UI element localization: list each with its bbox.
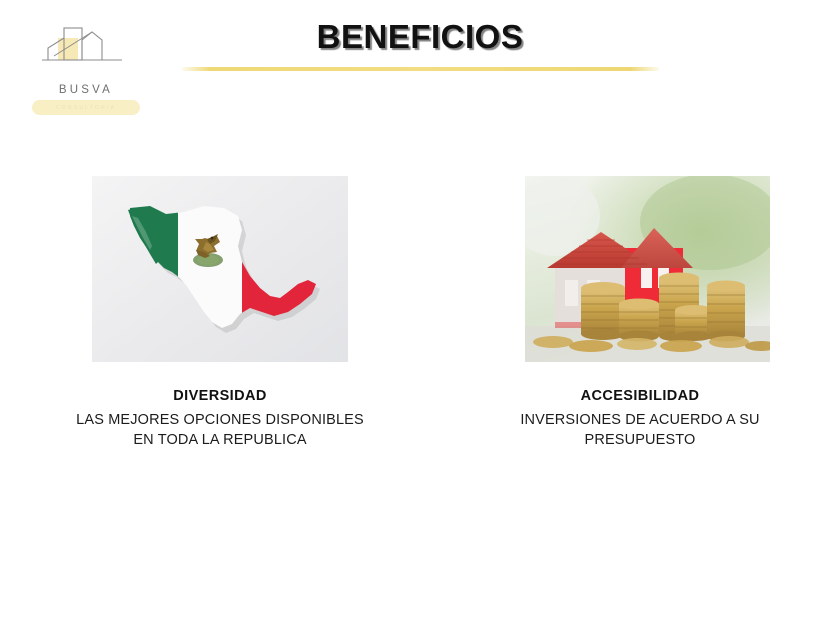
logo-wordmark: BUSVA <box>30 84 142 96</box>
benefit-description-line-2: EN TODA LA REPUBLICA <box>20 430 420 451</box>
page-title: BENEFICIOS <box>180 18 660 56</box>
benefit-caption-diversidad: DIVERSIDAD LAS MEJORES OPCIONES DISPONIB… <box>20 386 420 451</box>
benefit-caption-accesibilidad: ACCESIBILIDAD INVERSIONES DE ACUERDO A S… <box>455 386 825 451</box>
benefit-title: DIVERSIDAD <box>20 386 420 407</box>
benefit-title: ACCESIBILIDAD <box>455 386 825 407</box>
slide-canvas: BUSVA CONSULTORIA BENEFICIOS <box>0 0 840 630</box>
building-outline-icon <box>30 26 142 84</box>
mexico-map-flag-photo <box>92 176 348 362</box>
benefit-description-line-1: INVERSIONES DE ACUERDO A SU <box>455 410 825 431</box>
building-outline-svg <box>30 26 142 84</box>
house-and-coins-svg <box>525 176 770 362</box>
benefit-description-line-2: PRESUPUESTO <box>455 430 825 451</box>
mexico-map-svg <box>92 176 348 362</box>
benefit-description-line-1: LAS MEJORES OPCIONES DISPONIBLES <box>20 410 420 431</box>
benefit-column-accesibilidad: ACCESIBILIDAD INVERSIONES DE ACUERDO A S… <box>455 176 825 451</box>
logo-tagline: CONSULTORIA <box>56 105 116 111</box>
house-and-coins-photo <box>525 176 770 362</box>
title-divider <box>182 67 659 71</box>
brand-logo: BUSVA CONSULTORIA <box>30 26 142 126</box>
benefit-column-diversidad: DIVERSIDAD LAS MEJORES OPCIONES DISPONIB… <box>20 176 420 451</box>
logo-tagline-plate: CONSULTORIA <box>32 100 140 115</box>
